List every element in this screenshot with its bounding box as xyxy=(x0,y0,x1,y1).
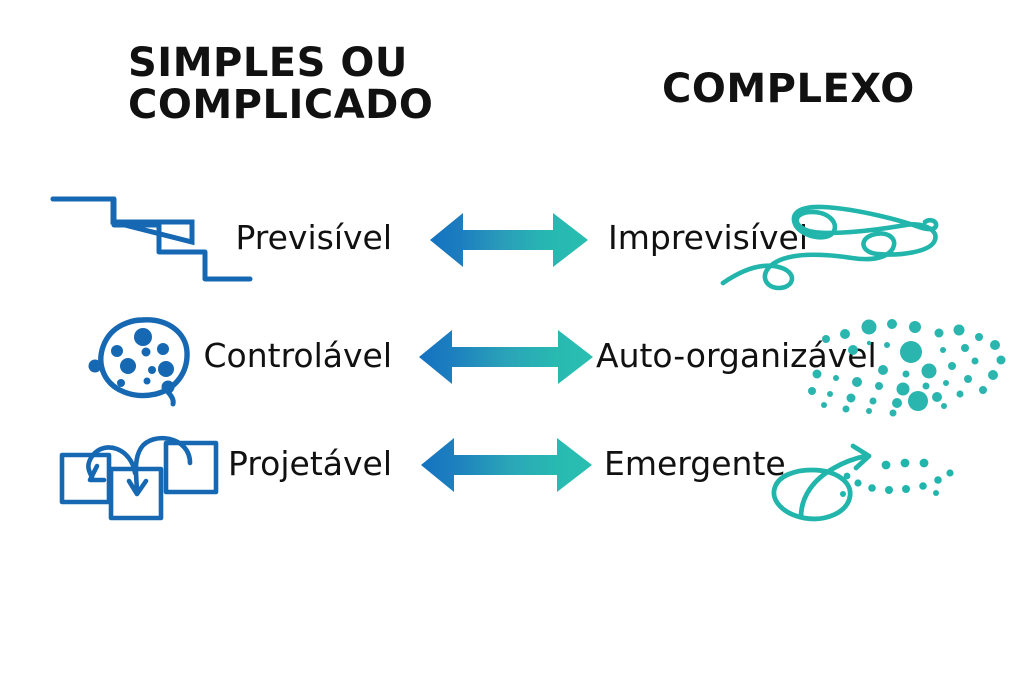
row-label-auto-organizavel: Auto-organizável xyxy=(596,336,877,375)
row-label-projetavel: Projetável xyxy=(120,444,392,483)
row-label-previsivel: Previsível xyxy=(120,218,392,257)
looping-arrow-dotted-trail-icon xyxy=(774,446,954,519)
arrow-row-previsivel-imprevisivel[interactable] xyxy=(430,210,590,270)
diagram-canvas: Simples ou complicado Complexo Previsíve… xyxy=(0,0,1024,683)
arrow-row-controlavel-auto-organizavel[interactable] xyxy=(419,328,595,388)
row-label-emergente: Emergente xyxy=(604,444,786,483)
row-label-controlavel: Controlável xyxy=(120,336,392,375)
arrow-row-projetavel-emergente[interactable] xyxy=(421,436,594,496)
row-label-imprevisivel: Imprevisível xyxy=(608,218,808,257)
heading-complexo: Complexo xyxy=(662,68,915,110)
heading-simples-ou-complicado: Simples ou complicado xyxy=(128,42,433,127)
